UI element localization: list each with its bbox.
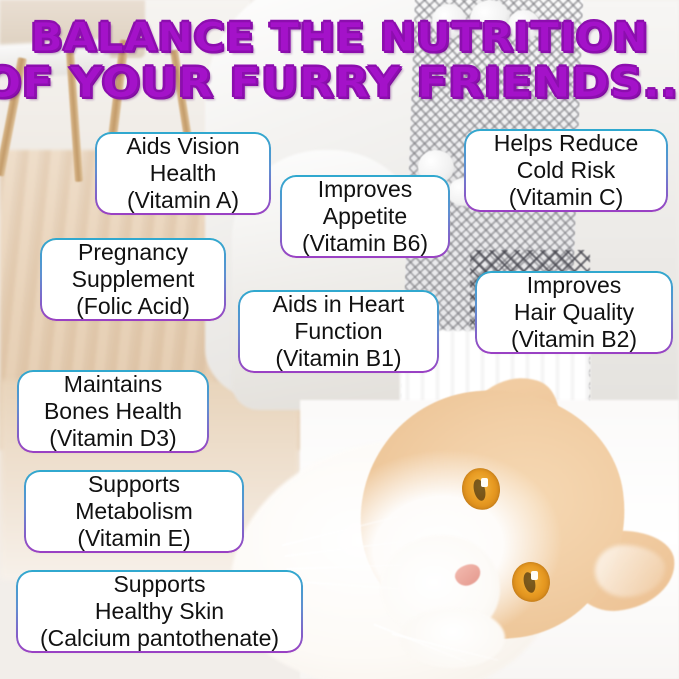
benefit-text-vitamin-b1: Aids in Heart Function (Vitamin B1)	[273, 291, 405, 372]
benefit-box-vitamin-b1: Aids in Heart Function (Vitamin B1)	[240, 292, 437, 371]
benefit-box-folic-acid: Pregnancy Supplement (Folic Acid)	[42, 240, 224, 319]
pompom	[508, 10, 540, 40]
pompom	[432, 4, 466, 38]
benefit-text-calcium-pantothenate: Supports Healthy Skin (Calcium pantothen…	[40, 571, 279, 652]
pompom	[470, 0, 510, 38]
cat-eye-glint	[531, 571, 538, 580]
benefit-text-vitamin-b2: Improves Hair Quality (Vitamin B2)	[511, 272, 637, 353]
benefit-box-vitamin-d3: Maintains Bones Health (Vitamin D3)	[19, 372, 207, 451]
benefit-text-vitamin-a: Aids Vision Health (Vitamin A)	[126, 133, 239, 214]
benefit-box-vitamin-a: Aids Vision Health (Vitamin A)	[97, 134, 269, 213]
benefit-text-vitamin-b6: Improves Appetite (Vitamin B6)	[302, 176, 428, 257]
benefit-box-vitamin-b6: Improves Appetite (Vitamin B6)	[282, 177, 448, 256]
benefit-box-calcium-pantothenate: Supports Healthy Skin (Calcium pantothen…	[18, 572, 301, 651]
benefit-box-vitamin-b2: Improves Hair Quality (Vitamin B2)	[477, 273, 671, 352]
benefit-box-vitamin-e: Supports Metabolism (Vitamin E)	[26, 472, 242, 551]
benefit-text-folic-acid: Pregnancy Supplement (Folic Acid)	[72, 239, 195, 320]
infographic-canvas: Balance the Nutrition of your Furry Frie…	[0, 0, 679, 679]
benefit-text-vitamin-e: Supports Metabolism (Vitamin E)	[75, 471, 193, 552]
cat-photo-subject	[250, 380, 679, 679]
benefit-box-vitamin-c: Helps Reduce Cold Risk (Vitamin C)	[466, 131, 666, 210]
benefit-text-vitamin-c: Helps Reduce Cold Risk (Vitamin C)	[494, 130, 638, 211]
cat-eye-glint	[481, 478, 488, 487]
benefit-text-vitamin-d3: Maintains Bones Health (Vitamin D3)	[44, 371, 182, 452]
